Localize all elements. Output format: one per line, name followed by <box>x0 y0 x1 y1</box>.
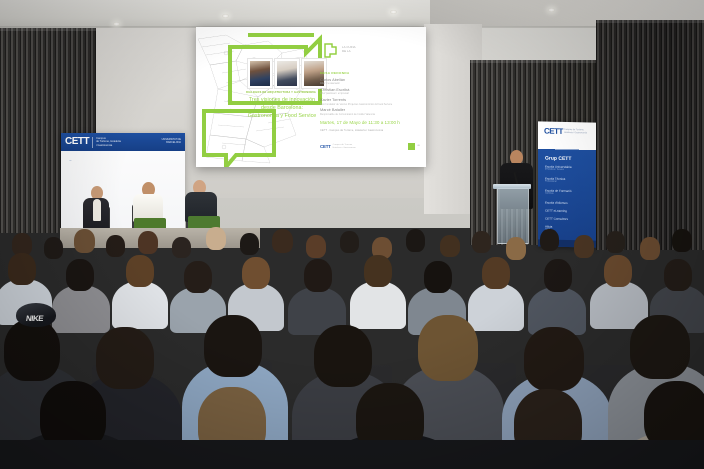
audience-head <box>304 259 332 292</box>
audience-head <box>4 319 60 381</box>
slide-title-line3: Gastronomía y Food Service <box>236 113 328 121</box>
speaker-role: Chef pastisser i empresari <box>320 92 418 95</box>
nike-logo: NIKE <box>25 314 43 323</box>
conference-room-photo: DIALOGOS DE ARQUITECTURA Y GASTRONOMIA T… <box>0 0 704 469</box>
audience: NIKE <box>0 215 704 469</box>
backdrop-header: CETT Campus de Turisme, Hoteleria i Gast… <box>61 133 185 151</box>
slat-top-trim <box>0 28 96 31</box>
audience-head <box>314 325 372 387</box>
slide-footer-logos: CETT Campus de Turisme, Hoteleria i Gast… <box>320 143 420 150</box>
backdrop-tile: UB <box>69 157 71 163</box>
slide-logo-text: LA CUINA DE LA <box>342 46 356 54</box>
audience-head <box>8 253 36 285</box>
cuina-logo-icon <box>322 41 339 60</box>
slide-overline: DIALOGOS DE ARQUITECTURA Y GASTRONOMIA <box>242 91 320 94</box>
projection-screen: DIALOGOS DE ARQUITECTURA Y GASTRONOMIA T… <box>196 27 426 167</box>
speaker-role: Chef i restaurador <box>320 82 418 85</box>
backdrop-sub-line3: i Gastronomia <box>96 144 121 147</box>
speaker-entry: Carlos Abellán Chef i restaurador <box>320 78 418 86</box>
projected-slide: DIALOGOS DE ARQUITECTURA Y GASTRONOMIA T… <box>196 27 426 167</box>
slide-footer-partner-logo: UB <box>408 143 420 150</box>
slide-location: CETT - Campus de Turisme, Hoteleria i Ga… <box>320 129 418 133</box>
slide-datetime: Martes, 17 de Mayo de 11:30 a 13:00 h <box>320 120 418 126</box>
backdrop-tile-sub: UB <box>69 160 71 162</box>
speaker-entry: Xavier Torrents Soci fundador de Vercus … <box>320 98 418 106</box>
panel-heading: MESA REDONDA <box>320 71 418 75</box>
audience-head <box>506 237 526 260</box>
rollup-subtitle: Campus de Turisme, Hoteleria i Gastronom… <box>564 129 587 135</box>
rollup-item: Escola Tècnica Professional <box>545 178 565 184</box>
audience-head <box>204 315 262 377</box>
audience-head <box>206 227 226 250</box>
rollup-heading: Grup CETT <box>545 156 571 163</box>
backdrop-brand: CETT <box>65 137 89 147</box>
audience-head <box>242 257 270 289</box>
backdrop-divider <box>92 137 93 148</box>
speaker-role: Soci fundador de Vercus Projectes Gastro… <box>320 103 418 106</box>
audience-shoulders <box>350 281 406 329</box>
audience-head <box>544 259 572 292</box>
speaker-entry: Christian Escribà Chef pastisser i empre… <box>320 88 418 96</box>
audience-head <box>106 235 125 257</box>
ceiling-downlight <box>113 22 120 26</box>
audience-head <box>340 231 359 253</box>
audience-head <box>630 315 690 379</box>
rollup-item-sub: Professional <box>545 181 565 184</box>
slide-title-line2: desde Barcelona: <box>236 105 328 113</box>
slide-title-line1: Tres visiones de innovación <box>236 97 328 105</box>
audience-head <box>184 261 212 293</box>
audience-head <box>44 237 63 259</box>
audience-shoulders <box>52 285 110 333</box>
foreground-shadow <box>0 440 704 469</box>
speaker-entry: Marcè Bataller Responsable de Comunicaci… <box>320 108 418 116</box>
rollup-item: CETT eLearning <box>545 210 567 214</box>
rollup-item-label: Escola d'Idiomes <box>545 201 568 205</box>
audience-shoulders <box>112 281 168 329</box>
footer-brand: CETT <box>320 144 331 149</box>
audience-head <box>424 261 452 293</box>
audience-head <box>540 229 559 251</box>
rollup-sub-line2: Hoteleria i Gastronomia <box>564 132 587 135</box>
ceiling-downlight <box>222 14 229 18</box>
audience-head <box>604 255 632 287</box>
audience-head <box>440 235 460 257</box>
audience-shoulders <box>468 283 524 331</box>
audience-head <box>664 259 692 291</box>
ceiling-downlight <box>548 8 555 12</box>
audience-head <box>672 229 692 252</box>
ceiling-downlight <box>390 10 397 14</box>
audience-head <box>406 229 425 252</box>
audience-head <box>272 229 293 253</box>
slat-top-trim <box>470 60 605 63</box>
rollup-item: Escola de Formació Contínua <box>545 190 572 196</box>
audience-head <box>172 237 191 258</box>
speaker-portrait <box>275 59 299 88</box>
footer-brand-sub2: Hoteleria i Gastronomia <box>333 147 356 149</box>
audience-head <box>240 233 259 255</box>
audience-head <box>524 327 584 391</box>
rollup-brand: CETT <box>544 127 563 136</box>
rollup-item: Escola d'Idiomes <box>545 202 568 206</box>
audience-head <box>74 229 95 253</box>
audience-head <box>482 257 510 289</box>
backdrop-subtitle: Campus de Turisme, Hoteleria i Gastronom… <box>96 137 121 147</box>
footer-partner: UB <box>417 145 420 147</box>
audience-head <box>96 327 154 389</box>
audience-head <box>138 231 158 254</box>
slide-title: Tres visiones de innovación desde Barcel… <box>236 97 328 120</box>
rollup-item-sub: Contínua <box>545 193 572 196</box>
audience-head <box>66 259 94 291</box>
rollup-item: Escola Universitària d'Hoteleria i Turis… <box>545 166 572 172</box>
slide-logo-line2: DE LA <box>342 50 356 54</box>
footer-brand-sub: Campus de Turisme, Hoteleria i Gastronom… <box>333 144 356 149</box>
audience-head <box>606 231 625 253</box>
slide-footer-cett-logo: CETT Campus de Turisme, Hoteleria i Gast… <box>320 144 356 149</box>
rollup-item-sub: d'Hoteleria i Turisme <box>545 169 572 172</box>
slide-logo: LA CUINA DE LA <box>322 39 362 65</box>
audience-head <box>640 237 660 260</box>
backdrop-university: UNIVERSITAT DE BARCELONA <box>162 139 181 145</box>
speaker-portrait <box>248 59 272 88</box>
slat-top-trim <box>596 20 704 23</box>
audience-head <box>574 235 594 258</box>
partner-mark-icon <box>408 143 415 150</box>
audience-head <box>418 315 478 381</box>
audience-head <box>364 255 392 287</box>
baseball-cap: NIKE <box>16 303 56 327</box>
audience-head <box>306 235 326 258</box>
audience-head <box>472 231 491 253</box>
speaker-portraits <box>248 59 326 88</box>
slide-speaker-column: MESA REDONDA Carlos Abellán Chef i resta… <box>320 71 418 132</box>
audience-head <box>126 255 154 287</box>
backdrop-university-line2: BARCELONA <box>162 142 181 145</box>
speaker-role: Responsable de Comunicació de Institut V… <box>320 113 418 116</box>
rollup-item-label: CETT eLearning <box>545 209 567 213</box>
